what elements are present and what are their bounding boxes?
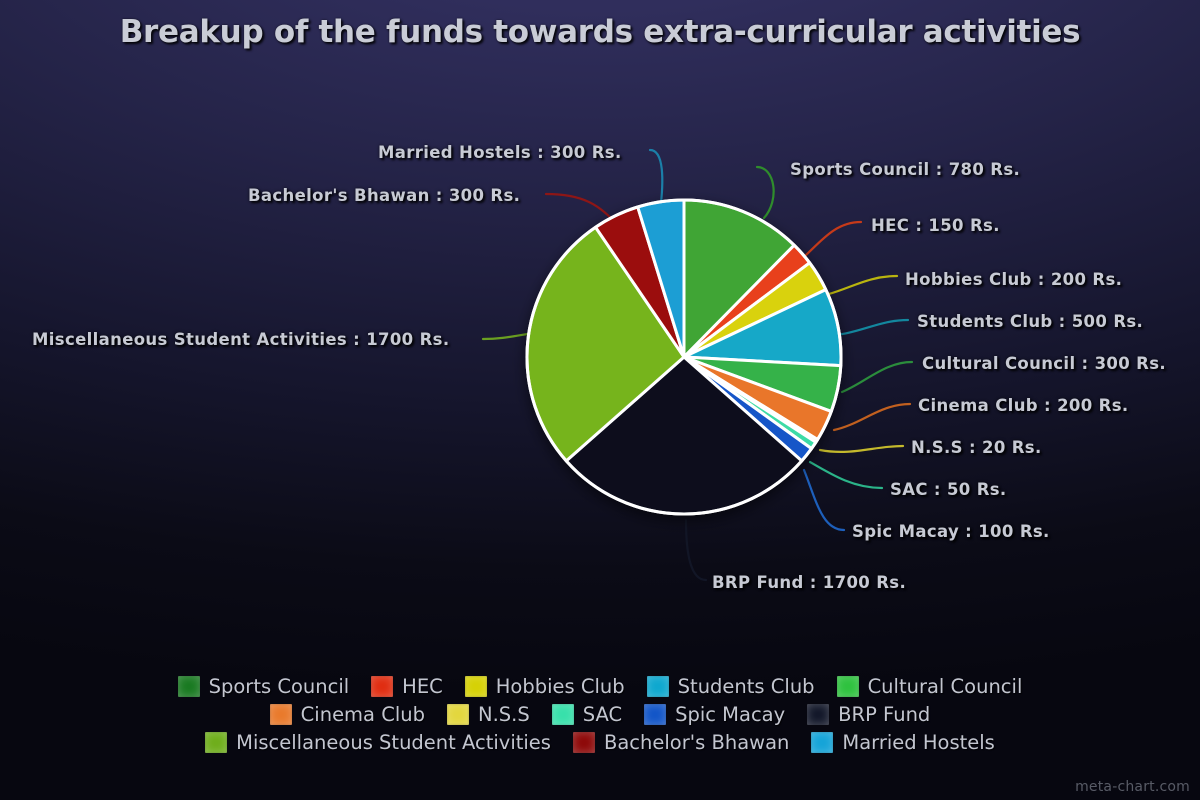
- legend-label: N.S.S: [478, 703, 530, 726]
- leader-line-brp-fund: [686, 520, 706, 580]
- legend-item-hec[interactable]: HEC: [371, 675, 443, 698]
- leader-line-nss: [820, 446, 903, 452]
- legend-swatch: [552, 704, 574, 725]
- legend-label: Miscellaneous Student Activities: [236, 731, 551, 754]
- slice-label-sports-council: Sports Council : 780 Rs.: [790, 160, 1020, 179]
- legend-label: Spic Macay: [675, 703, 785, 726]
- legend-swatch: [178, 676, 200, 697]
- legend-item-brp-fund[interactable]: BRP Fund: [807, 703, 930, 726]
- legend-swatch: [811, 732, 833, 753]
- legend-swatch: [647, 676, 669, 697]
- legend-swatch: [644, 704, 666, 725]
- leader-line-sac: [810, 462, 882, 488]
- legend-label: Cinema Club: [301, 703, 425, 726]
- slice-label-nss: N.S.S : 20 Rs.: [911, 438, 1042, 457]
- legend-row: Sports CouncilHECHobbies ClubStudents Cl…: [0, 672, 1200, 700]
- slice-label-bachelors-bhawan: Bachelor's Bhawan : 300 Rs.: [248, 186, 520, 205]
- slice-label-cultural-council: Cultural Council : 300 Rs.: [922, 354, 1166, 373]
- legend-label: Students Club: [678, 675, 815, 698]
- leader-line-sports-council: [757, 167, 774, 218]
- slice-label-hec: HEC : 150 Rs.: [871, 216, 1000, 235]
- legend-item-sac[interactable]: SAC: [552, 703, 622, 726]
- legend-item-students-club[interactable]: Students Club: [647, 675, 815, 698]
- legend-swatch: [573, 732, 595, 753]
- slice-label-spic-macay: Spic Macay : 100 Rs.: [852, 522, 1050, 541]
- legend-swatch: [371, 676, 393, 697]
- legend-row: Cinema ClubN.S.SSACSpic MacayBRP Fund: [0, 700, 1200, 728]
- legend-label: BRP Fund: [838, 703, 930, 726]
- legend-item-sports-council[interactable]: Sports Council: [178, 675, 350, 698]
- legend-label: Cultural Council: [868, 675, 1023, 698]
- leader-line-spic-macay: [804, 470, 844, 530]
- legend-item-cultural-council[interactable]: Cultural Council: [837, 675, 1023, 698]
- chart-legend: Sports CouncilHECHobbies ClubStudents Cl…: [0, 672, 1200, 756]
- slice-label-cinema-club: Cinema Club : 200 Rs.: [918, 396, 1129, 415]
- slice-label-married-hostels: Married Hostels : 300 Rs.: [378, 143, 622, 162]
- legend-item-married-hostels[interactable]: Married Hostels: [811, 731, 994, 754]
- legend-label: Bachelor's Bhawan: [604, 731, 789, 754]
- legend-swatch: [465, 676, 487, 697]
- legend-label: SAC: [583, 703, 622, 726]
- legend-item-hobbies-club[interactable]: Hobbies Club: [465, 675, 625, 698]
- slice-label-hobbies-club: Hobbies Club : 200 Rs.: [905, 270, 1122, 289]
- leader-line-cultural-council: [842, 362, 912, 392]
- legend-item-miscellaneous-student-activities[interactable]: Miscellaneous Student Activities: [205, 731, 551, 754]
- slice-label-miscellaneous: Miscellaneous Student Activities : 1700 …: [32, 330, 449, 349]
- legend-item-bachelor-s-bhawan[interactable]: Bachelor's Bhawan: [573, 731, 789, 754]
- legend-item-n-s-s[interactable]: N.S.S: [447, 703, 530, 726]
- legend-label: Married Hostels: [842, 731, 994, 754]
- pie-slices: [527, 200, 841, 514]
- legend-swatch: [205, 732, 227, 753]
- legend-swatch: [447, 704, 469, 725]
- watermark: meta-chart.com: [1075, 779, 1190, 795]
- legend-label: HEC: [402, 675, 443, 698]
- legend-item-cinema-club[interactable]: Cinema Club: [270, 703, 425, 726]
- leader-line-cinema-club: [834, 404, 910, 430]
- legend-row: Miscellaneous Student ActivitiesBachelor…: [0, 728, 1200, 756]
- legend-swatch: [807, 704, 829, 725]
- slice-label-sac: SAC : 50 Rs.: [890, 480, 1007, 499]
- legend-swatch: [270, 704, 292, 725]
- slice-label-brp-fund: BRP Fund : 1700 Rs.: [712, 573, 906, 592]
- chart-root: Breakup of the funds towards extra-curri…: [0, 0, 1200, 800]
- legend-label: Hobbies Club: [496, 675, 625, 698]
- legend-label: Sports Council: [209, 675, 350, 698]
- slice-label-students-club: Students Club : 500 Rs.: [917, 312, 1143, 331]
- legend-item-spic-macay[interactable]: Spic Macay: [644, 703, 785, 726]
- legend-swatch: [837, 676, 859, 697]
